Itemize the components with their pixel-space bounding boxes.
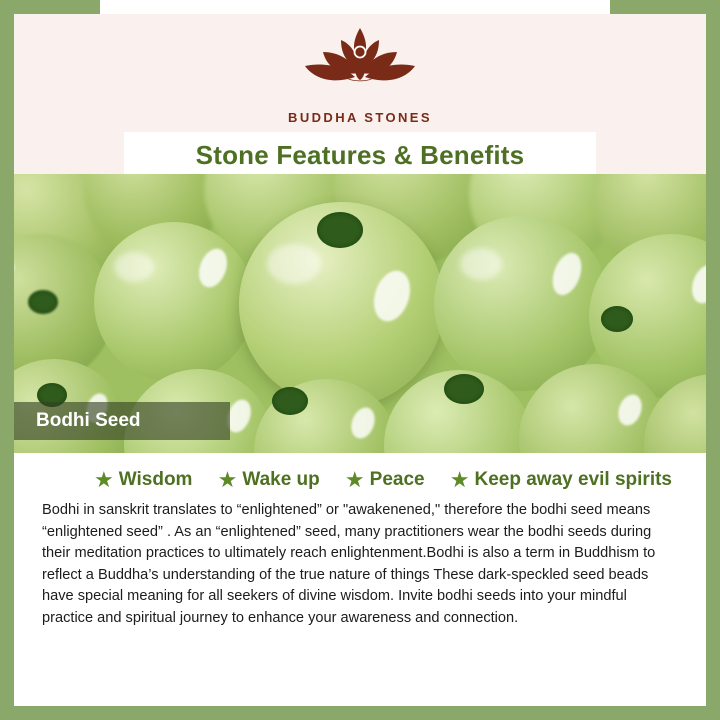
product-photo: Bodhi Seed xyxy=(14,174,706,453)
description-paragraph: Bodhi in sanskrit translates to “enlight… xyxy=(42,500,674,629)
frame-bottom xyxy=(0,706,720,720)
frame-top-left xyxy=(0,0,100,14)
star-icon: ★ xyxy=(218,469,238,491)
benefit-label: Wisdom xyxy=(119,469,193,491)
frame-top-right xyxy=(610,0,720,14)
frame-left xyxy=(0,0,14,706)
brand-logo: BUDDHA STONES xyxy=(14,24,706,125)
bead xyxy=(94,222,254,382)
photo-caption-bar: Bodhi Seed xyxy=(14,402,230,440)
star-icon: ★ xyxy=(450,469,470,491)
page-title: Stone Features & Benefits xyxy=(196,140,525,171)
benefits-list: ★ Wisdom ★ Wake up ★ Peace ★ Keep away e… xyxy=(42,469,678,491)
benefit-item-wisdom: ★ Wisdom xyxy=(94,469,192,491)
brand-name: BUDDHA STONES xyxy=(14,110,706,125)
benefit-item-keep-away-evil-spirits: ★ Keep away evil spirits xyxy=(450,469,672,491)
lotus-meditation-icon xyxy=(285,24,435,106)
photo-caption: Bodhi Seed xyxy=(14,410,141,432)
description-text: Bodhi in sanskrit translates to “enlight… xyxy=(42,500,678,629)
benefit-item-peace: ★ Peace xyxy=(345,469,425,491)
star-icon: ★ xyxy=(94,469,114,491)
benefit-item-wake-up: ★ Wake up xyxy=(218,469,320,491)
benefits-section: ★ Wisdom ★ Wake up ★ Peace ★ Keep away e… xyxy=(14,453,706,706)
title-band: Stone Features & Benefits xyxy=(124,132,596,179)
header: BUDDHA STONES Stone Features & Benefits xyxy=(14,14,706,174)
benefit-label: Peace xyxy=(370,469,425,491)
frame-right xyxy=(706,14,720,720)
benefit-label: Keep away evil spirits xyxy=(475,469,673,491)
bead-front xyxy=(239,202,444,407)
benefit-label: Wake up xyxy=(242,469,319,491)
star-icon: ★ xyxy=(345,469,365,491)
poster-page: BUDDHA STONES Stone Features & Benefits xyxy=(0,0,720,720)
